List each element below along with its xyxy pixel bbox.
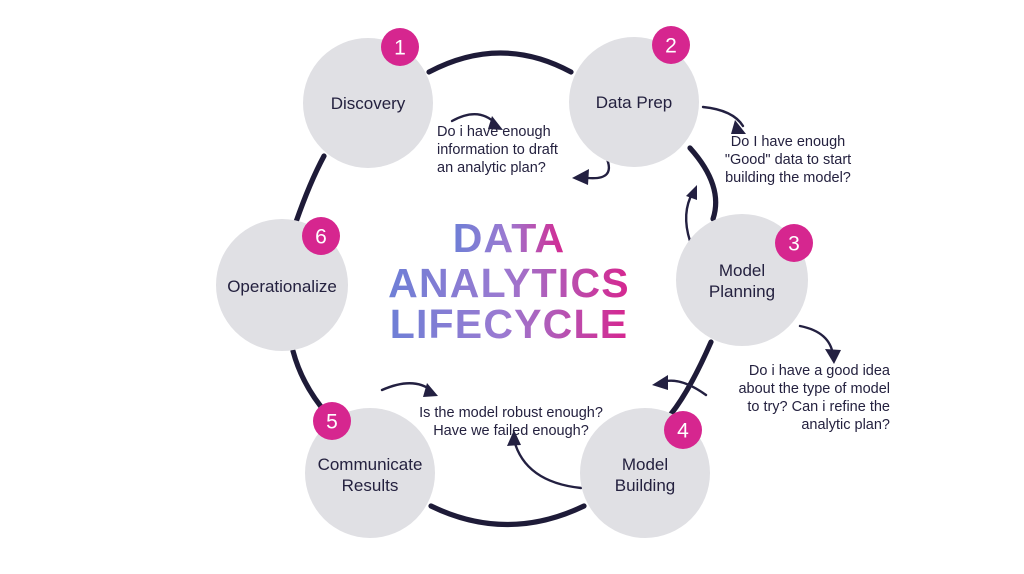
question-data-prep: Do I have enough "Good" data to start bu… xyxy=(725,134,851,186)
badge-label-6: 6 xyxy=(315,226,327,249)
title-line-2: ANALYTICS xyxy=(388,260,630,306)
question-model-planning-line-4: analytic plan? xyxy=(801,417,890,433)
question-model-building-line-1: Is the model robust enough? xyxy=(419,405,603,421)
node-model-building-label-line-2: Building xyxy=(615,476,676,495)
arrow-model-planning-question xyxy=(800,326,841,364)
connector-data-prep-to-model-planning xyxy=(690,148,716,219)
connector-operationalize-to-discovery xyxy=(296,156,324,222)
node-model-planning-label-line-1: Model xyxy=(719,261,765,280)
node-communicate-results[interactable]: Communicate Results 5 xyxy=(305,402,435,538)
badge-label-2: 2 xyxy=(665,35,677,58)
question-data-prep-line-2: "Good" data to start xyxy=(725,152,851,168)
node-model-planning-label-line-2: Planning xyxy=(709,282,775,301)
question-data-prep-line-3: building the model? xyxy=(725,170,851,186)
question-model-planning-line-1: Do i have a good idea xyxy=(749,363,891,379)
node-data-prep[interactable]: Data Prep 2 xyxy=(569,26,699,167)
node-operationalize[interactable]: Operationalize 6 xyxy=(216,217,348,351)
node-model-building[interactable]: Model Building 4 xyxy=(580,408,710,538)
question-model-planning-line-3: to try? Can i refine the xyxy=(747,399,890,415)
node-communicate-results-label-line-2: Results xyxy=(342,476,399,495)
node-data-prep-label-line-1: Data Prep xyxy=(596,93,673,112)
node-discovery-label-line-1: Discovery xyxy=(331,94,406,113)
question-model-building: Is the model robust enough? Have we fail… xyxy=(419,405,603,439)
center-title: DATA ANALYTICS LIFECYCLE xyxy=(388,215,630,347)
node-operationalize-badge: 6 xyxy=(302,217,340,255)
connector-model-planning-to-model-building xyxy=(671,342,711,414)
arrow-question-to-model-building xyxy=(652,375,706,395)
badge-label-1: 1 xyxy=(394,37,406,60)
node-operationalize-label-line-1: Operationalize xyxy=(227,277,337,296)
badge-label-3: 3 xyxy=(788,233,800,256)
question-discovery: Do i have enough information to draft an… xyxy=(437,124,558,176)
diagram-canvas: DATA ANALYTICS LIFECYCLE Discovery 1 Dat… xyxy=(0,0,1024,574)
node-model-planning-badge: 3 xyxy=(775,224,813,262)
question-model-building-line-2: Have we failed enough? xyxy=(433,423,589,439)
node-communicate-results-badge: 5 xyxy=(313,402,351,440)
title-line-3: LIFECYCLE xyxy=(390,301,629,347)
badge-label-4: 4 xyxy=(677,420,689,443)
question-model-planning-line-2: about the type of model xyxy=(738,381,890,397)
node-model-building-badge: 4 xyxy=(664,411,702,449)
question-discovery-line-2: information to draft xyxy=(437,142,558,158)
question-discovery-line-3: an analytic plan? xyxy=(437,160,546,176)
data-analytics-lifecycle-diagram: DATA ANALYTICS LIFECYCLE Discovery 1 Dat… xyxy=(0,0,1024,574)
node-communicate-results-label-line-1: Communicate xyxy=(318,455,423,474)
connector-discovery-to-data-prep xyxy=(429,53,571,72)
title-line-1: DATA xyxy=(453,215,566,261)
badge-label-5: 5 xyxy=(326,411,338,434)
question-model-planning: Do i have a good idea about the type of … xyxy=(738,363,890,433)
arrow-question-to-communicate-results xyxy=(382,383,438,397)
node-discovery-badge: 1 xyxy=(381,28,419,66)
arrow-question-to-model-planning xyxy=(686,185,697,241)
question-data-prep-line-1: Do I have enough xyxy=(731,134,845,150)
node-model-building-label-line-1: Model xyxy=(622,455,668,474)
node-discovery[interactable]: Discovery 1 xyxy=(303,28,433,168)
node-model-planning[interactable]: Model Planning 3 xyxy=(676,214,813,346)
connector-model-building-to-communicate-results xyxy=(431,506,584,525)
node-data-prep-badge: 2 xyxy=(652,26,690,64)
connector-communicate-results-to-operationalize xyxy=(293,351,327,414)
question-discovery-line-1: Do i have enough xyxy=(437,124,551,140)
arrow-data-prep-question xyxy=(703,107,746,134)
